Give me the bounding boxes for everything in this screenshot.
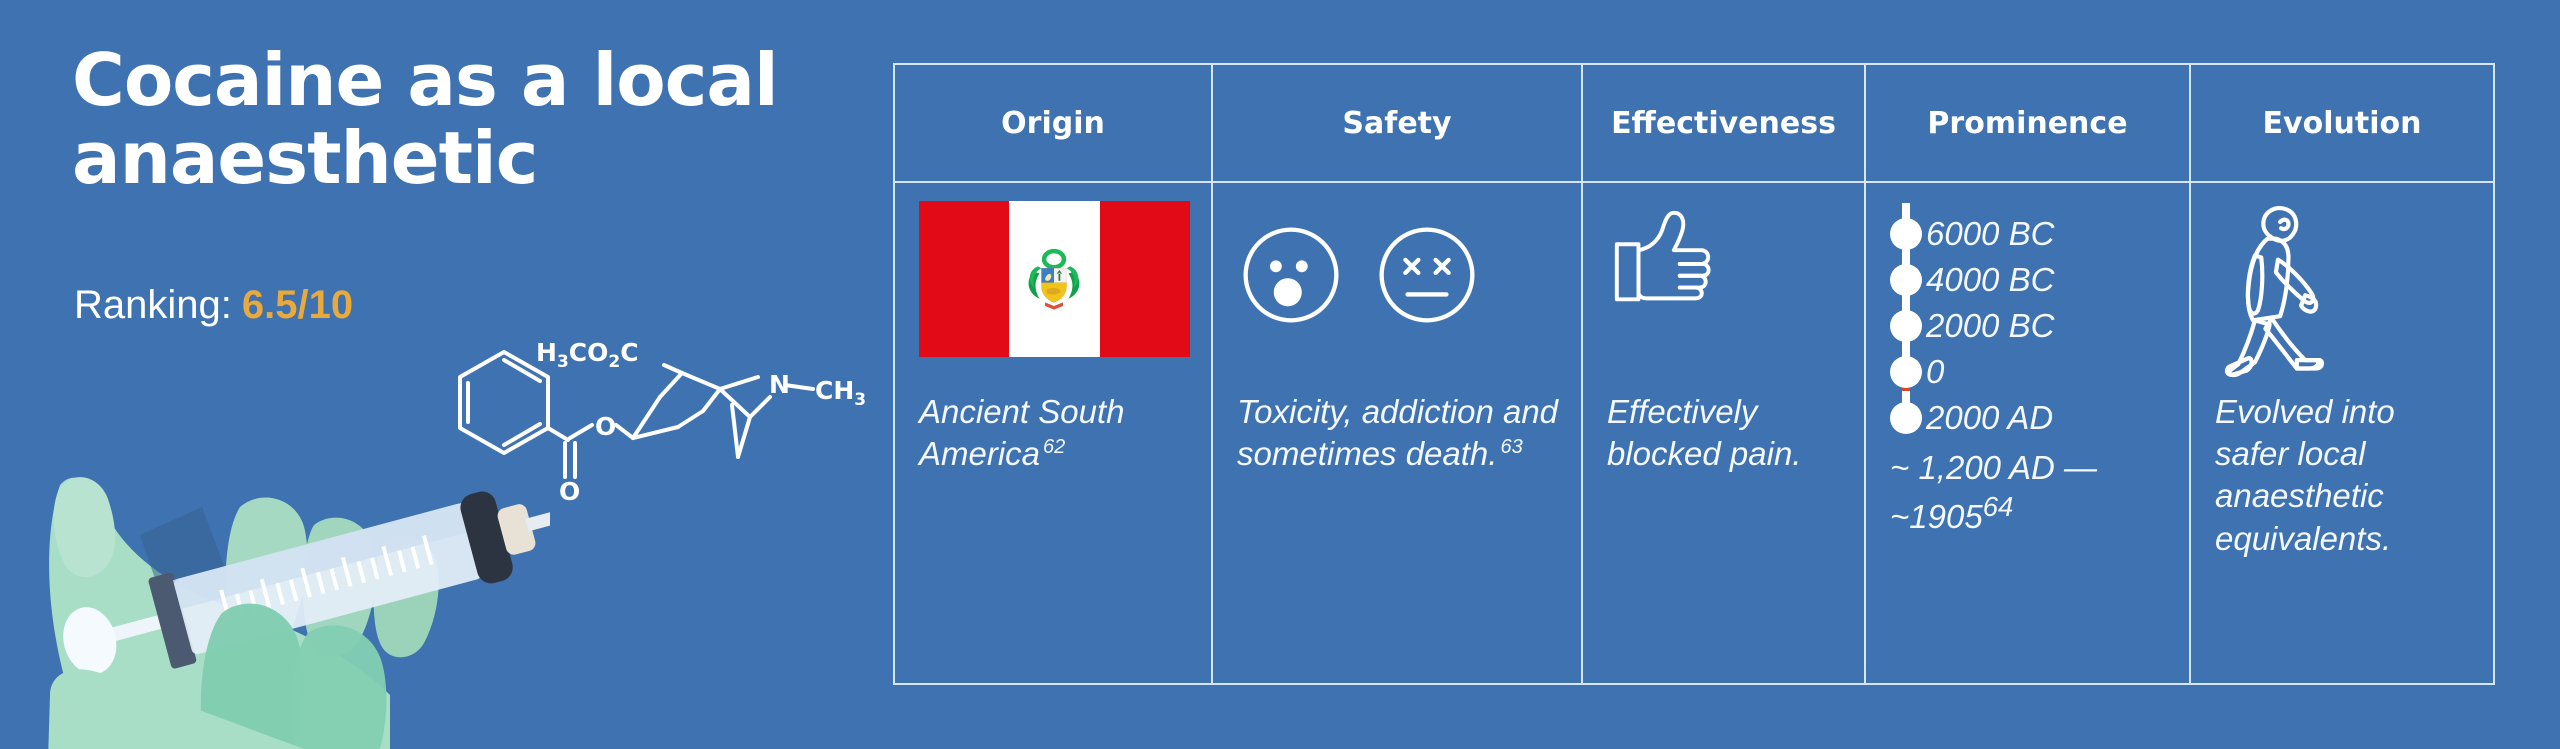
timeline-dot	[1890, 402, 1922, 434]
effectiveness-icon-wrap	[1607, 201, 1844, 391]
timeline-row: 2000 AD	[1890, 395, 2190, 441]
flag-band-white	[1009, 201, 1099, 357]
glove-front-finger-2	[292, 625, 387, 749]
table-header-safety: Safety	[1213, 65, 1583, 181]
surprised-face-icon	[1237, 221, 1345, 329]
syringe-needle	[525, 488, 550, 532]
timeline-label-1: 6000 BC	[1926, 215, 2054, 253]
molecule-label-carbonyl-oxygen: O	[559, 477, 580, 506]
thumbs-up-icon	[1607, 201, 1725, 319]
molecule-label-ester-oxygen: O	[595, 412, 616, 441]
walking-person-icon	[2215, 201, 2341, 379]
table-header-evolution: Evolution	[2191, 65, 2493, 181]
timeline-label-2: 4000 BC	[1926, 261, 2054, 299]
gloved-hand-syringe-illustration	[0, 395, 550, 749]
table-header-row: Origin Safety Effectiveness Prominence E…	[895, 65, 2493, 183]
prominence-footnote: 64	[1983, 491, 2014, 522]
table-header-origin: Origin	[895, 65, 1213, 181]
ranking-row: Ranking:6.5/10	[74, 283, 353, 328]
molecule-label-methyl: CH3	[815, 376, 866, 410]
evolution-text: Evolved into safer local anaesthetic equ…	[2215, 391, 2473, 560]
page-title: Cocaine as a local anaesthetic	[72, 42, 832, 198]
safety-icon-wrap	[1237, 201, 1561, 391]
origin-footnote: 62	[1043, 436, 1065, 458]
timeline-label-5: 2000 AD	[1926, 399, 2053, 437]
timeline-row: 2000 BC	[1890, 303, 2190, 349]
molecule-label-ester: H3CO2C	[536, 338, 639, 372]
molecule-label-nitrogen: N	[769, 370, 790, 399]
timeline-dot	[1890, 310, 1922, 342]
ranking-label: Ranking:	[74, 283, 232, 327]
table-header-prominence: Prominence	[1866, 65, 2191, 181]
table-cell-evolution: Evolved into safer local anaesthetic equ…	[2191, 183, 2493, 683]
prominence-timeline: 6000 BC 4000 BC 2000 BC 0	[1890, 201, 2190, 441]
timeline-row: 6000 BC	[1890, 211, 2190, 257]
table-header-effectiveness: Effectiveness	[1583, 65, 1866, 181]
left-panel: Cocaine as a local anaesthetic Ranking:6…	[0, 0, 893, 749]
safety-text: Toxicity, addiction and sometimes death.…	[1237, 391, 1561, 475]
timeline-label-3: 2000 BC	[1926, 307, 2054, 345]
timeline-label-4: 0	[1926, 353, 1944, 391]
infographic-page: Cocaine as a local anaesthetic Ranking:6…	[0, 0, 2560, 749]
table-cell-prominence: 6000 BC 4000 BC 2000 BC 0	[1866, 183, 2191, 683]
peru-flag-icon	[919, 201, 1190, 357]
table-cell-safety: Toxicity, addiction and sometimes death.…	[1213, 183, 1583, 683]
ranking-value: 6.5/10	[242, 283, 353, 327]
effectiveness-text: Effectively blocked pain.	[1607, 391, 1844, 475]
table-body-row: Ancient South America62	[895, 183, 2493, 683]
prominence-text: ~ 1,200 AD — ~190564	[1890, 447, 2169, 538]
table-cell-effectiveness: Effectively blocked pain.	[1583, 183, 1866, 683]
origin-icon-wrap	[919, 201, 1191, 391]
evolution-icon-wrap	[2215, 201, 2473, 391]
flag-band-red-left	[919, 201, 1009, 357]
timeline-dot	[1890, 356, 1922, 388]
flag-band-red-right	[1100, 201, 1190, 357]
timeline-dot	[1890, 264, 1922, 296]
peru-coat-of-arms-icon	[1018, 243, 1090, 315]
origin-text: Ancient South America62	[919, 391, 1191, 475]
safety-footnote: 63	[1500, 436, 1522, 458]
comparison-table: Origin Safety Effectiveness Prominence E…	[893, 63, 2495, 685]
timeline-dot	[1890, 218, 1922, 250]
dead-face-icon	[1373, 221, 1481, 329]
timeline-row: 4000 BC	[1890, 257, 2190, 303]
table-cell-origin: Ancient South America62	[895, 183, 1213, 683]
timeline-row: 0	[1890, 349, 2190, 395]
